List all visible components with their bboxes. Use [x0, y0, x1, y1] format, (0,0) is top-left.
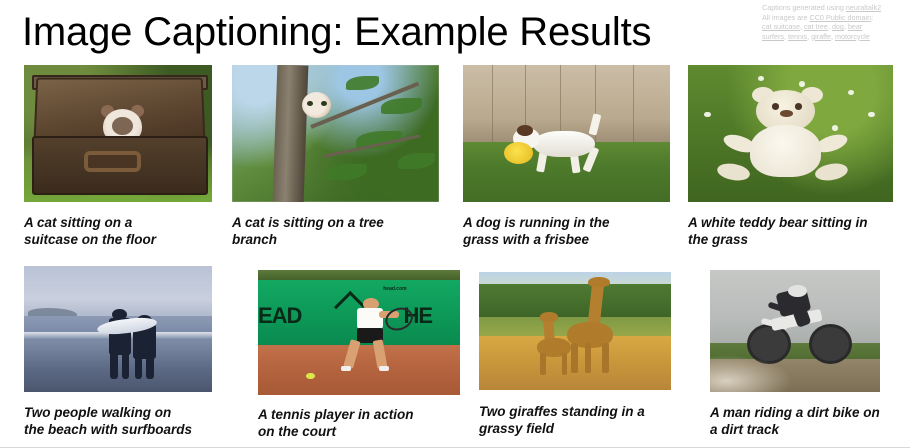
example-image-dirt-bike	[710, 270, 880, 392]
attribution-block: Captions generated using neuraltalk2 All…	[762, 3, 902, 41]
scene-giraffes-field	[479, 272, 671, 390]
head-brand-left: EAD	[258, 303, 301, 329]
image-source-link-cat-suitcase[interactable]: cat suitcase	[762, 22, 800, 31]
attribution-image-links-row-2: surfers tennis giraffe motorcycle	[762, 32, 902, 42]
scene-surfers-beach	[24, 266, 212, 392]
attribution-image-links-row-1: cat suitcase cat tree dog bear	[762, 22, 902, 32]
example-cell-giraffes-field: Two giraffes standing in a grassy field	[479, 272, 679, 437]
image-source-link-motorcycle[interactable]: motorcycle	[835, 32, 870, 41]
scene-dirt-bike	[710, 270, 880, 392]
example-caption-dog-frisbee: A dog is running in the grass with a fri…	[463, 214, 669, 248]
example-caption-cat-tree: A cat is sitting on a tree branch	[232, 214, 438, 248]
neuraltalk2-link[interactable]: neuraltalk2	[846, 3, 881, 12]
example-caption-tennis-player: A tennis player in action on the court	[258, 406, 462, 440]
image-source-link-tennis[interactable]: tennis	[788, 32, 807, 41]
scene-cat-suitcase	[24, 65, 212, 202]
example-caption-surfers-beach: Two people walking on the beach with sur…	[24, 404, 214, 438]
scene-tennis-player: EAD HE head.com	[258, 270, 460, 395]
example-caption-giraffes-field: Two giraffes standing in a grassy field	[479, 403, 675, 437]
example-image-cat-tree	[232, 65, 439, 202]
example-image-dog-frisbee	[463, 65, 670, 202]
image-source-link-giraffe[interactable]: giraffe	[811, 32, 831, 41]
slide-canvas: Image Captioning: Example Results Captio…	[0, 0, 910, 448]
image-source-link-cat-tree[interactable]: cat tree	[804, 22, 828, 31]
example-image-tennis-player: EAD HE head.com	[258, 270, 460, 395]
image-source-link-surfers[interactable]: surfers	[762, 32, 784, 41]
page-title: Image Captioning: Example Results	[22, 8, 651, 56]
image-source-link-bear[interactable]: bear	[848, 22, 862, 31]
image-source-link-dog[interactable]: dog	[832, 22, 844, 31]
example-caption-teddy-bear: A white teddy bear sitting in the grass	[688, 214, 894, 248]
example-cell-tennis-player: EAD HE head.com A tennis player in actio…	[258, 270, 468, 440]
head-url-text: head.com	[383, 286, 406, 292]
attribution-line-2: All images are CC0 Public domain:	[762, 13, 902, 23]
example-cell-surfers-beach: Two people walking on the beach with sur…	[24, 266, 220, 438]
scene-dog-frisbee	[463, 65, 670, 202]
attribution-line-1: Captions generated using neuraltalk2	[762, 3, 902, 13]
example-cell-cat-tree: A cat is sitting on a tree branch	[232, 65, 442, 248]
scene-teddy-bear	[688, 65, 893, 202]
attribution-line-1-text: Captions generated using	[762, 3, 846, 12]
example-cell-dog-frisbee: A dog is running in the grass with a fri…	[463, 65, 673, 248]
example-image-giraffes-field	[479, 272, 671, 390]
cc0-license-link[interactable]: CC0 Public domain	[810, 13, 872, 22]
example-image-teddy-bear	[688, 65, 893, 202]
example-image-surfers-beach	[24, 266, 212, 392]
example-cell-teddy-bear: A white teddy bear sitting in the grass	[688, 65, 898, 248]
example-caption-cat-suitcase: A cat sitting on a suitcase on the floor	[24, 214, 210, 248]
example-image-cat-suitcase	[24, 65, 212, 202]
example-caption-dirt-bike: A man riding a dirt bike on a dirt track	[710, 404, 906, 438]
attribution-line-2-text: All images are	[762, 13, 810, 22]
attribution-line-2-suffix: :	[871, 13, 873, 22]
example-cell-cat-suitcase: A cat sitting on a suitcase on the floor	[24, 65, 220, 248]
scene-cat-tree	[232, 65, 439, 202]
example-cell-dirt-bike: A man riding a dirt bike on a dirt track	[710, 270, 910, 438]
